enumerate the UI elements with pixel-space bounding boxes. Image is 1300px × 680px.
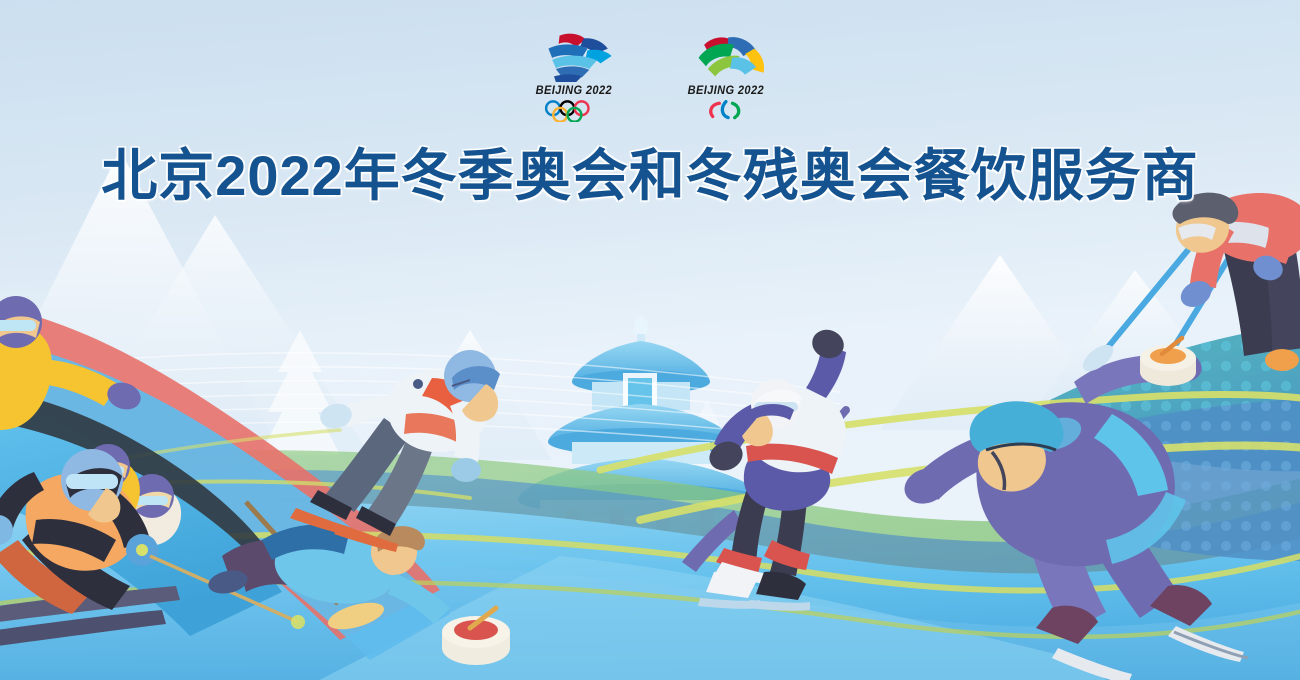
flying-high-emblem-icon bbox=[680, 30, 773, 82]
ice-hockey-player bbox=[682, 325, 848, 610]
title-wrap: 北京2022年冬季奥会和冬残奥会餐饮服务商 bbox=[0, 144, 1300, 208]
logo-row: BEIJING 2022 BEIJING 2022 bbox=[0, 30, 1300, 122]
curling-stone-orange bbox=[1140, 338, 1196, 386]
curler-delivering bbox=[206, 502, 510, 665]
winter-dream-emblem-icon bbox=[528, 30, 621, 82]
speed-skater-white bbox=[290, 350, 500, 552]
olympic-logo: BEIJING 2022 bbox=[527, 30, 621, 122]
olympic-wordmark: BEIJING 2022 bbox=[536, 85, 612, 97]
bobsleigh-athlete-1 bbox=[0, 296, 144, 430]
paralympic-wordmark: BEIJING 2022 bbox=[688, 85, 764, 97]
speed-skate-rear bbox=[1150, 585, 1248, 662]
curler-sweeping bbox=[1078, 193, 1300, 386]
page-title: 北京2022年冬季奥会和冬残奥会餐饮服务商 bbox=[101, 144, 1199, 208]
paralympic-logo: BEIJING 2022 bbox=[679, 30, 773, 122]
olympic-rings-icon bbox=[542, 100, 607, 122]
beijing-2022-banner: BEIJING 2022 BEIJING 2022 bbox=[0, 0, 1300, 680]
curling-stone-red bbox=[442, 608, 510, 665]
speed-skater-purple bbox=[900, 346, 1248, 680]
paralympic-agitos-icon bbox=[694, 100, 759, 122]
speed-skate-front bbox=[1036, 606, 1132, 680]
